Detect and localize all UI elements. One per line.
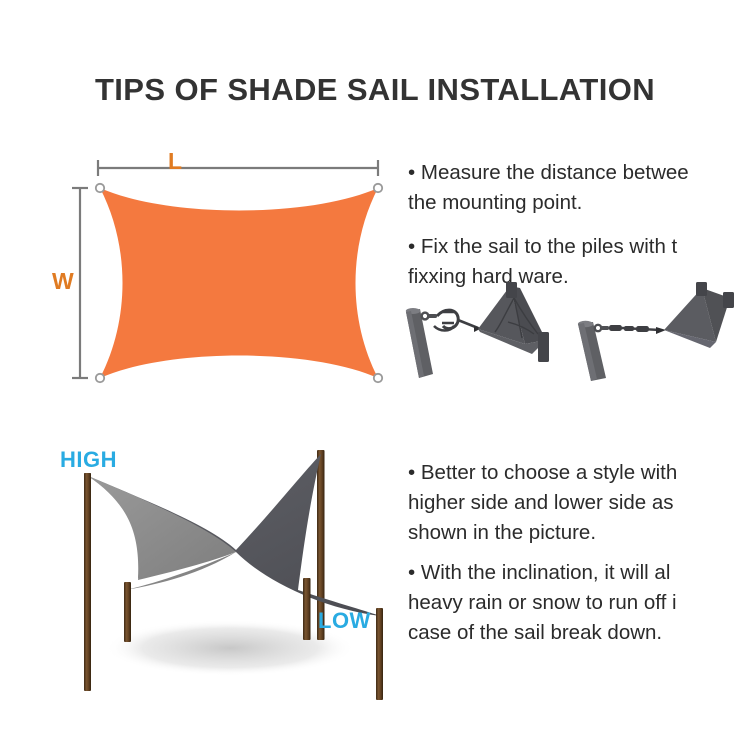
tip-inclination-line-1: • With the inclination, it will al xyxy=(408,558,750,588)
hardware-illustration-cable xyxy=(560,282,750,382)
cable-thimble xyxy=(656,327,666,334)
pole-low-right xyxy=(376,608,383,700)
sail-dimension-diagram xyxy=(60,140,400,400)
low-label: LOW xyxy=(318,608,371,634)
pole-front-left xyxy=(124,582,131,642)
tip-better-line-3: shown in the picture. xyxy=(408,518,750,548)
sail-front-panel xyxy=(88,476,236,580)
grommet-top-right xyxy=(374,184,382,192)
tip-inclination-line-2: heavy rain or snow to run off i xyxy=(408,588,750,618)
high-label: HIGH xyxy=(60,447,117,473)
pole-front-right xyxy=(303,578,311,640)
grommet-bottom-right xyxy=(374,374,382,382)
sail-diagram-svg xyxy=(60,140,400,400)
grommet-top-left xyxy=(96,184,104,192)
length-label: L xyxy=(168,148,182,175)
tip-better-line-1: • Better to choose a style with xyxy=(408,458,750,488)
sail-back-dark xyxy=(88,454,380,616)
tip-better: • Better to choose a style with higher s… xyxy=(408,458,750,548)
tip-inclination: • With the inclination, it will al heavy… xyxy=(408,558,750,648)
tip-measure-line-1: • Measure the distance betwee xyxy=(408,158,750,188)
turnbuckle xyxy=(434,310,458,330)
hardware-right-svg xyxy=(560,282,750,382)
shade-scene-svg xyxy=(40,440,420,710)
page-title: TIPS OF SHADE SAIL INSTALLATION xyxy=(0,72,750,108)
tip-measure-line-2: the mounting point. xyxy=(408,188,750,218)
grommet-bottom-left xyxy=(96,374,104,382)
eye-bolt xyxy=(420,311,437,320)
infographic-page: TIPS OF SHADE SAIL INSTALLATION xyxy=(0,0,750,750)
tip-better-line-2: higher side and lower side as xyxy=(408,488,750,518)
hardware-left-svg xyxy=(400,282,585,382)
hardware-illustration-turnbuckle xyxy=(400,282,585,382)
snap-hook xyxy=(594,324,609,333)
length-dimension-line xyxy=(98,160,378,176)
post-pole xyxy=(406,308,433,378)
high-low-shade-scene xyxy=(40,440,420,710)
tip-measure: • Measure the distance betwee the mounti… xyxy=(408,158,750,218)
width-label: W xyxy=(52,268,74,295)
pole-high-left-lower xyxy=(84,473,91,691)
orange-sail-shape xyxy=(100,188,378,378)
sail-corner-panel xyxy=(664,288,730,348)
tip-fix-line-1: • Fix the sail to the piles with t xyxy=(408,232,750,262)
tip-inclination-line-3: case of the sail break down. xyxy=(408,618,750,648)
width-dimension-line xyxy=(72,188,88,378)
